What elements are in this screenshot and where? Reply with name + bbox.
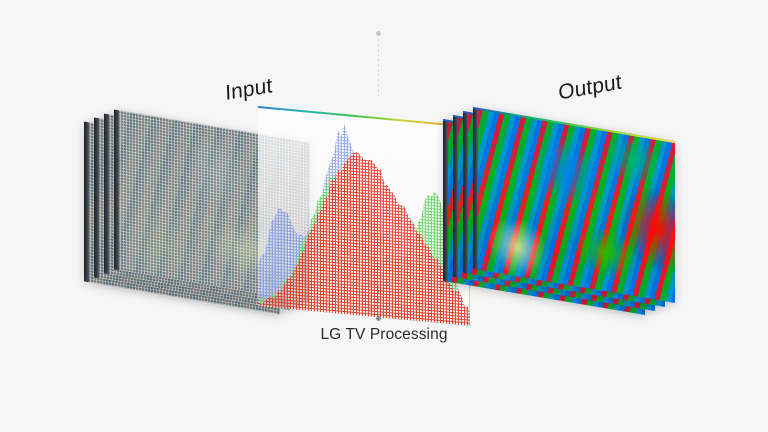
panel-side-edge [104, 113, 109, 274]
leader-dot-top [376, 31, 381, 36]
caption-lg-tv-processing: LG TV Processing [0, 326, 768, 344]
panel-side-edge [84, 121, 89, 282]
rgb-histogram [258, 106, 470, 326]
leader-line-top [378, 34, 379, 96]
output-panel-front [473, 107, 675, 303]
illustration-canvas: Input Output LG TV Processing [0, 0, 768, 432]
input-label: Input [225, 74, 273, 106]
panel-side-edge [453, 115, 458, 278]
panel-side-edge [443, 119, 448, 282]
panel-side-edge [473, 107, 478, 270]
panel-side-edge [114, 109, 119, 270]
leader-line-bottom [378, 286, 379, 316]
panel-side-edge [463, 111, 468, 274]
histogram-processing-plane [258, 106, 470, 326]
output-label: Output [558, 70, 623, 105]
panel-side-edge [94, 117, 99, 278]
leader-dot-bottom [376, 316, 381, 321]
